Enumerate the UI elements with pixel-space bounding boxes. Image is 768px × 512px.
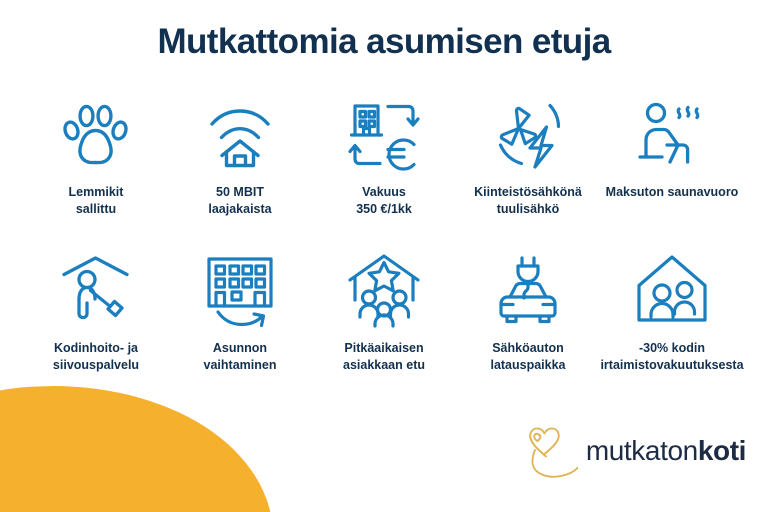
benefit-label: Lemmikit sallittu <box>69 184 124 219</box>
benefit-item: Asunnon vaihtaminen <box>168 248 312 375</box>
benefit-label: Maksuton saunavuoro <box>606 184 739 201</box>
benefit-item: -30% kodin irtaimistovakuutuksesta <box>600 248 744 375</box>
paw-print-icon <box>61 92 131 178</box>
benefit-item: Kodinhoito- ja siivouspalvelu <box>24 248 168 375</box>
benefit-item: Kiinteistösähkönä tuulisähkö <box>456 92 600 219</box>
benefit-label: -30% kodin irtaimistovakuutuksesta <box>600 340 743 375</box>
wifi-house-icon <box>204 92 276 178</box>
benefit-label: Sähköauton latauspaikka <box>490 340 565 375</box>
logo-wordmark: mutkatonkoti <box>586 435 746 467</box>
benefit-label: Kiinteistösähkönä tuulisähkö <box>474 184 582 219</box>
benefit-label: Asunnon vaihtaminen <box>204 340 277 375</box>
benefit-label: Vakuus 350 €/1kk <box>356 184 412 219</box>
amber-decorative-blob <box>0 371 277 512</box>
wind-turbine-bolt-icon <box>490 92 566 178</box>
benefit-item: Lemmikit sallittu <box>24 92 168 219</box>
house-two-people-icon <box>633 248 711 334</box>
infographic-canvas: Mutkattomia asumisen etuja Lemmikit sall… <box>0 0 768 512</box>
benefits-row-2: Kodinhoito- ja siivouspalvelu <box>24 248 744 375</box>
benefit-item: Pitkäaikaisen asiakkaan etu <box>312 248 456 375</box>
ev-charging-car-icon <box>488 248 568 334</box>
building-euro-exchange-icon <box>346 92 422 178</box>
logo-text-bold: koti <box>698 435 746 466</box>
logo-text-light: mutkaton <box>586 435 698 466</box>
brand-logo[interactable]: mutkatonkoti <box>522 422 746 480</box>
house-star-people-icon <box>344 248 424 334</box>
page-title: Mutkattomia asumisen etuja <box>0 22 768 62</box>
sauna-person-icon <box>632 92 712 178</box>
benefit-item: Vakuus 350 €/1kk <box>312 92 456 219</box>
benefit-label: Pitkäaikaisen asiakkaan etu <box>343 340 425 375</box>
benefit-label: 50 MBIT laajakaista <box>208 184 271 219</box>
cleaning-person-icon <box>57 248 135 334</box>
apartment-swap-icon <box>201 248 279 334</box>
benefit-item: Maksuton saunavuoro <box>600 92 744 219</box>
benefit-item: Sähköauton latauspaikka <box>456 248 600 375</box>
benefit-label: Kodinhoito- ja siivouspalvelu <box>53 340 139 375</box>
heart-swoosh-icon <box>522 422 578 480</box>
benefit-item: 50 MBIT laajakaista <box>168 92 312 219</box>
benefits-row-1: Lemmikit sallittu 50 MBIT laajakaista <box>24 92 744 219</box>
